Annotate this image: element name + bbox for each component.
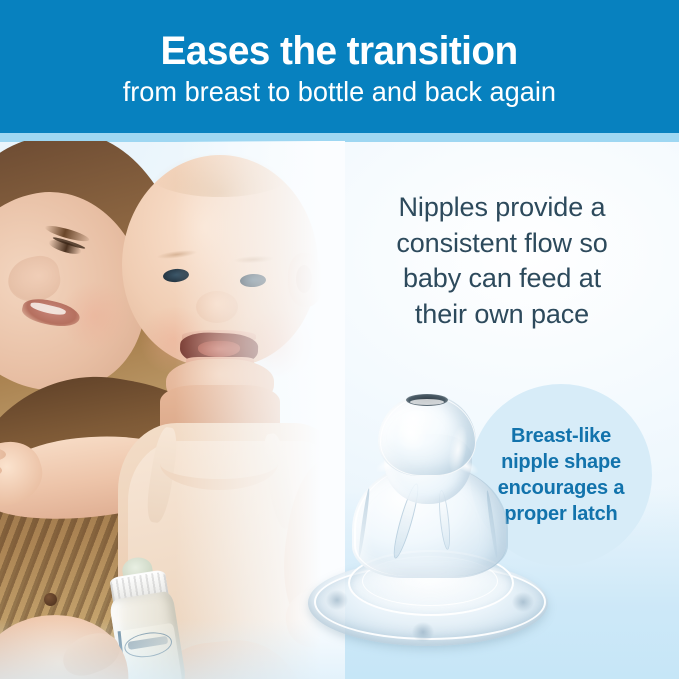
paragraph-line: baby can feed at bbox=[352, 261, 652, 297]
photo-content bbox=[0, 141, 345, 679]
subheadline: from breast to bottle and back again bbox=[123, 78, 556, 106]
feature-paragraph: Nipples provide a consistent flow so bab… bbox=[352, 190, 652, 333]
nipple-flow-hole-highlight bbox=[410, 399, 444, 405]
photo-bottom-fade bbox=[0, 619, 345, 679]
bottle-nipple-product-image bbox=[300, 392, 556, 654]
paragraph-line: Nipples provide a bbox=[352, 190, 652, 226]
product-feature-poster: Eases the transition from breast to bott… bbox=[0, 0, 679, 679]
mother-shirt-button bbox=[44, 593, 57, 606]
paragraph-line: consistent flow so bbox=[352, 226, 652, 262]
nipple-flange-notch bbox=[326, 590, 348, 610]
headline: Eases the transition bbox=[161, 31, 518, 71]
nipple-flange-notch bbox=[512, 592, 534, 612]
paragraph-line: their own pace bbox=[352, 297, 652, 333]
nipple-flange-notch bbox=[412, 622, 434, 642]
header-banner: Eases the transition from breast to bott… bbox=[0, 0, 679, 133]
mother-and-baby-photo bbox=[0, 141, 345, 679]
